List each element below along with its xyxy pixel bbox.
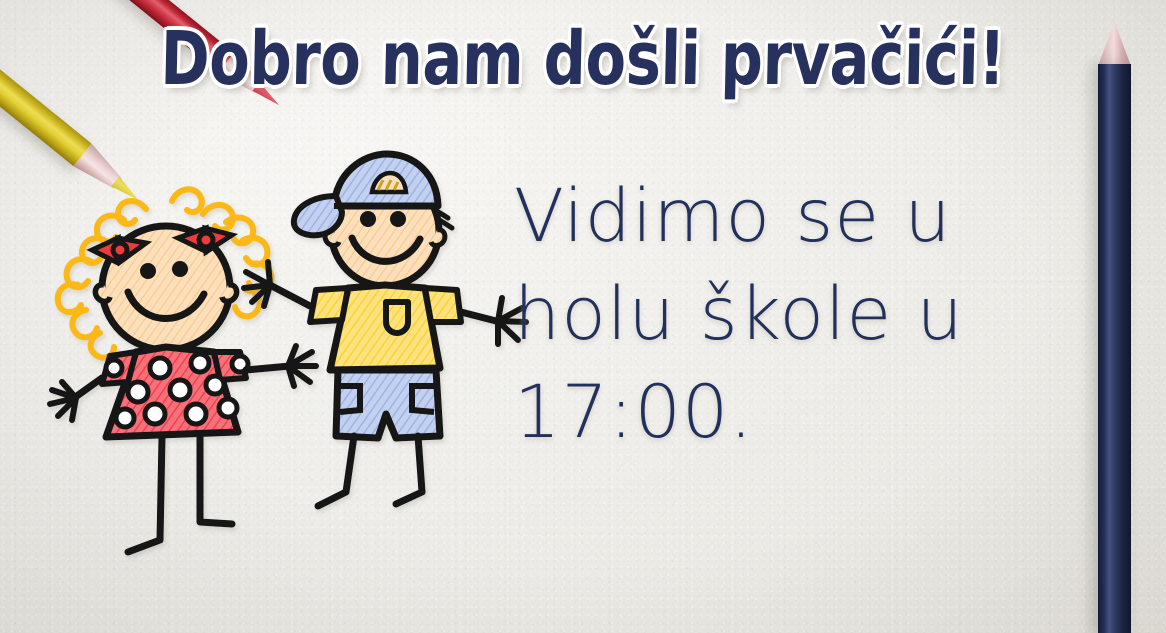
girl-sleeve-left	[102, 352, 136, 384]
girl-hair-left	[58, 201, 146, 358]
girl-ear-right	[222, 285, 237, 302]
girl-head	[102, 226, 230, 350]
girl-smile	[128, 292, 204, 319]
boy-arm-right	[461, 312, 500, 322]
boy-figure	[244, 154, 526, 506]
boy-shorts-pocket-right	[412, 386, 434, 412]
boy-ear-right	[431, 230, 445, 246]
boy-cap-emblem	[372, 173, 406, 192]
girl-hair-right	[172, 189, 271, 316]
boy-eye-right	[390, 211, 406, 227]
girl-hand-right	[288, 346, 316, 386]
boy-sleeve-left	[310, 288, 348, 322]
body-line-3: 17:00.	[514, 364, 1059, 462]
body-line-1: Vidimo se u	[514, 168, 1059, 266]
headline-text: Dobro nam došli prvačići!	[160, 22, 1006, 96]
girl-sleeve-right	[214, 352, 246, 380]
girl-leg-left	[128, 437, 162, 552]
headline: Dobro nam došli prvačići!	[0, 22, 1166, 96]
boy-head	[331, 176, 439, 286]
girl-ear-left	[95, 285, 110, 302]
boy-leg-right	[396, 436, 422, 504]
boy-leg-left	[318, 436, 354, 506]
girl-hand-left	[50, 382, 76, 420]
girl-dress	[106, 347, 238, 437]
girl-leg-right	[200, 437, 232, 524]
girl-eye-right	[172, 261, 188, 277]
boy-eye-left	[360, 211, 376, 227]
boy-cap	[334, 154, 438, 206]
poster-canvas: Dobro nam došli prvačići! Vidimo se u ho…	[0, 0, 1166, 633]
body-line-2: holu škole u	[514, 266, 1059, 364]
boy-shorts-pocket-left	[340, 386, 360, 412]
pencil-navy-barrel	[1098, 64, 1131, 633]
boy-hair	[319, 196, 452, 234]
girl-bow-right	[178, 228, 232, 252]
boy-shirt-pocket	[386, 302, 408, 333]
boy-arm-left	[268, 284, 310, 306]
boy-cap-emblem-hatch	[378, 180, 398, 190]
girl-eye-left	[140, 263, 156, 279]
girl-dress-dots	[106, 354, 248, 427]
boy-shirt	[330, 285, 440, 370]
boy-ear-left	[325, 230, 339, 246]
girl-figure	[50, 189, 316, 552]
boy-shorts	[336, 370, 440, 438]
girl-arm-right	[246, 366, 290, 370]
girl-arm-left	[74, 378, 102, 398]
boy-smile	[352, 238, 420, 261]
boy-cap-brim	[294, 196, 342, 235]
body-copy: Vidimo se u holu škole u 17:00.	[514, 168, 1059, 461]
boy-sleeve-right	[425, 288, 461, 322]
boy-hand-left	[244, 262, 270, 306]
girl-bow-left	[92, 238, 146, 262]
